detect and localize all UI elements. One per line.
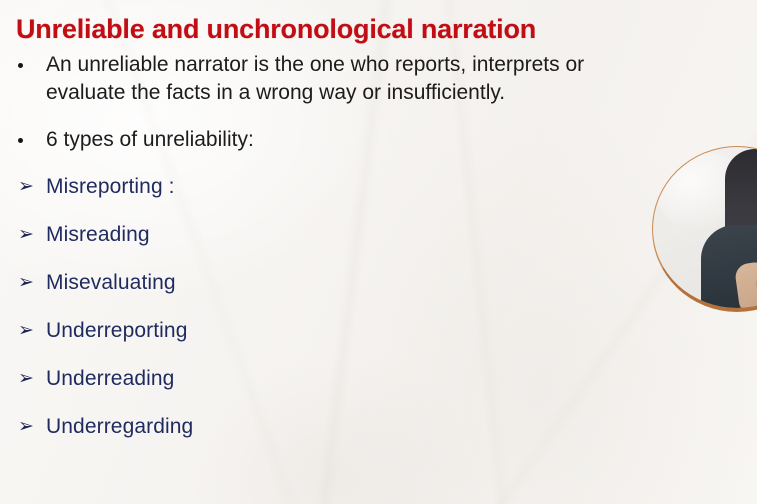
slide-body: An unreliable narrator is the one who re…	[0, 52, 757, 462]
sub-bullet-misreporting: ➢ Misreporting :	[0, 174, 757, 222]
sub-bullet-misevaluating: ➢ Misevaluating	[0, 270, 757, 318]
sub-bullet-underreporting: ➢ Underreporting	[0, 318, 757, 366]
sub-bullet-misreading: ➢ Misreading	[0, 222, 757, 270]
sub-bullet-label: Underreading	[46, 366, 174, 392]
arrow-icon: ➢	[18, 366, 34, 392]
bullet-item-1-line-1: An unreliable narrator is the one who re…	[46, 52, 757, 78]
sub-bullet-label: Misreading	[46, 222, 150, 248]
arrow-icon: ➢	[18, 414, 34, 440]
arrow-icon: ➢	[18, 270, 34, 296]
bullet-item-2: 6 types of unreliability:	[0, 127, 757, 153]
slide-canvas: Unreliable and unchronological narration…	[0, 0, 757, 504]
sub-bullet-label: Underreporting	[46, 318, 187, 344]
arrow-icon: ➢	[18, 222, 34, 248]
slide-title: Unreliable and unchronological narration	[16, 13, 536, 45]
bullet-item-2-line-1: 6 types of unreliability:	[46, 127, 757, 153]
bullet-item-1: An unreliable narrator is the one who re…	[0, 52, 757, 78]
arrow-icon: ➢	[18, 174, 34, 200]
sub-bullet-label: Underregarding	[46, 414, 193, 440]
arrow-icon: ➢	[18, 318, 34, 344]
spacer-after-bullet-2	[0, 155, 757, 174]
bullet-dot-icon	[18, 63, 23, 68]
bullet-dot-icon	[18, 138, 23, 143]
sub-bullet-label: Misevaluating	[46, 270, 176, 296]
sub-bullet-underregarding: ➢ Underregarding	[0, 414, 757, 462]
spacer-after-bullet-1	[0, 106, 757, 127]
sub-bullet-label: Misreporting :	[46, 174, 175, 200]
sub-bullet-underreading: ➢ Underreading	[0, 366, 757, 414]
bullet-item-1-line-2: evaluate the facts in a wrong way or ins…	[0, 80, 757, 106]
